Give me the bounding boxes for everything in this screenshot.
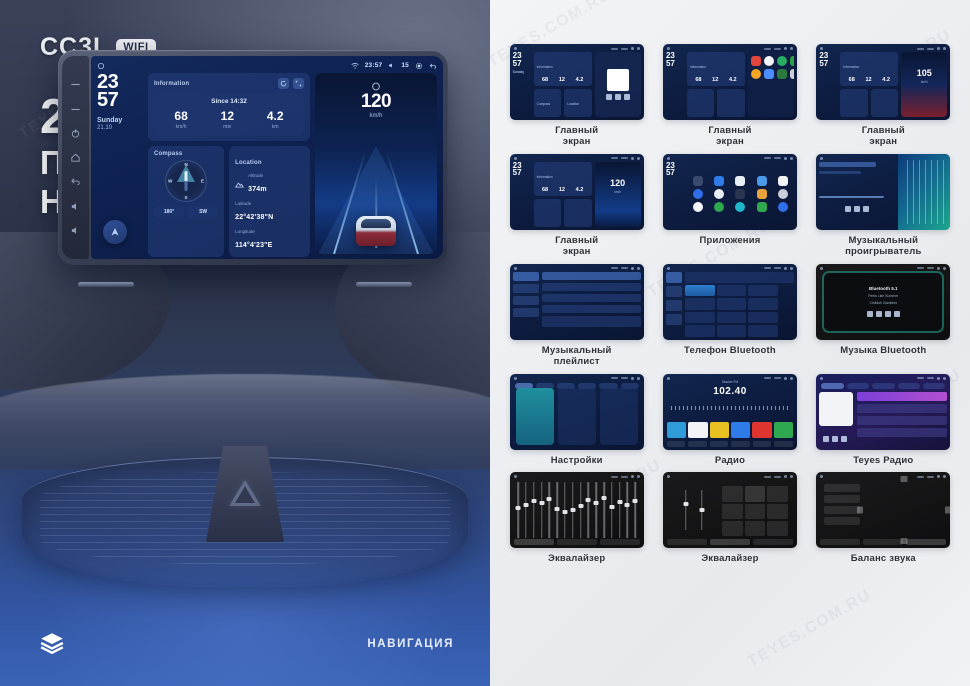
compass-north: N <box>184 162 187 167</box>
eq-band[interactable] <box>530 482 537 538</box>
information-title: Information <box>154 81 189 87</box>
balance-up-button[interactable] <box>901 476 908 482</box>
thumb-info-title: Information <box>843 65 859 69</box>
widgets-column: Information <box>148 73 310 254</box>
bluetooth-artist: Childish Gambino <box>870 301 898 305</box>
app-icon[interactable] <box>777 56 787 66</box>
settings-tiles[interactable] <box>516 388 638 445</box>
preset-station[interactable] <box>688 422 707 438</box>
thumb-speed-unit: km/h <box>595 190 641 194</box>
next-icon <box>863 206 869 212</box>
gallery-item-label: Музыкальныйплейлист <box>542 346 612 368</box>
playlist-categories[interactable] <box>513 272 539 337</box>
latitude-value: 22°42'38"N <box>235 214 273 221</box>
app-icon[interactable] <box>764 56 774 66</box>
compass-dial: N E S W <box>165 160 207 202</box>
location-card[interactable]: Location Altitude 374m Latitude <box>229 146 310 257</box>
balance-left-button[interactable] <box>857 507 863 514</box>
thumb-speed-value: 120 <box>595 178 641 188</box>
refresh-icon[interactable] <box>278 78 289 89</box>
gallery-item[interactable]: Эквалайзер <box>657 472 802 565</box>
app-icon[interactable] <box>751 56 761 66</box>
thumbnail-equalizer-presets[interactable] <box>663 472 797 548</box>
longitude-value: 114°4'23"E <box>235 242 272 249</box>
app-icon[interactable] <box>714 176 724 186</box>
back-icon[interactable] <box>429 62 437 70</box>
expand-icon[interactable] <box>293 78 304 89</box>
thumbnail-teyes-radio[interactable] <box>816 374 950 450</box>
wifi-tile[interactable] <box>516 388 554 445</box>
prev-icon <box>823 436 829 442</box>
gallery-item-label: Главныйэкран <box>862 126 905 148</box>
prev-icon <box>606 94 612 100</box>
gallery-grid: 2357Sunday Information 68124.2 CompassLo… <box>490 44 970 565</box>
app-icon[interactable] <box>757 189 767 199</box>
gallery-item[interactable]: Баланс звука <box>811 472 956 565</box>
balance-pad[interactable] <box>866 484 942 536</box>
compass-west: W <box>168 179 172 184</box>
eq-band[interactable] <box>569 482 576 538</box>
trip-stat: 68 km/h <box>174 110 187 130</box>
dial-display[interactable] <box>685 272 794 283</box>
radio-band: Stacker FM <box>663 380 797 384</box>
gear-icon[interactable] <box>415 62 423 70</box>
gallery-item[interactable]: Музыкальныйпроигрыватель <box>811 154 956 258</box>
thumb-speed-unit: km/h <box>901 80 947 84</box>
app-icon[interactable] <box>735 189 745 199</box>
thumb-compass-title: Compass <box>537 102 550 106</box>
gallery-item-label: Музыкальныйпроигрыватель <box>845 236 921 258</box>
gallery-item[interactable]: 2357 Information 68124.2 <box>657 44 802 148</box>
thumb-stat: 4.2 <box>576 77 584 83</box>
phone-actions[interactable] <box>780 285 794 337</box>
app-icon[interactable] <box>693 176 703 186</box>
thumb-stat: 12 <box>559 77 565 83</box>
vehicle-windshield <box>361 219 391 228</box>
gallery-watermark: TEYES.COM.RU <box>745 586 875 671</box>
app-icon[interactable] <box>790 56 794 66</box>
gallery-item-label: Главныйэкран <box>555 236 598 258</box>
trip-stat-value: 12 <box>221 110 234 122</box>
thumbnail-home-apps[interactable]: 2357 Information 68124.2 <box>663 44 797 120</box>
trip-stat-unit: km <box>267 124 284 130</box>
altitude-value: 374m <box>248 186 267 193</box>
thumb-clock-minutes: 57 <box>666 59 675 68</box>
vent-knob-right[interactable] <box>356 282 412 287</box>
thumbnail-equalizer-bands[interactable] <box>510 472 644 548</box>
navigation-arrow-icon <box>109 226 121 238</box>
clock-widget: 23 57 Sunday 21.10 <box>97 73 143 254</box>
gallery-item-label: Настройки <box>551 456 603 467</box>
thumb-stat: 4.2 <box>576 187 584 193</box>
thumb-stat: 68 <box>542 187 548 193</box>
thumbnail-apps[interactable]: 2357 <box>663 154 797 230</box>
eq-band[interactable] <box>562 482 569 538</box>
sound-tile[interactable] <box>558 388 596 445</box>
gallery-item-label: Главныйэкран <box>555 126 598 148</box>
clock-minutes: 57 <box>97 91 143 109</box>
app-icon[interactable] <box>764 69 774 79</box>
gallery-item-label: Приложения <box>699 236 760 247</box>
menu-icon[interactable] <box>70 79 81 90</box>
app-drawer[interactable] <box>687 162 794 227</box>
mountain-icon <box>235 180 244 189</box>
gallery-item[interactable]: 2357 Information 68124.2 120 km/h <box>504 154 649 258</box>
wifi-icon <box>351 62 359 70</box>
radio-presets[interactable] <box>667 422 793 438</box>
app-icon[interactable] <box>693 202 703 212</box>
balance-toolbar[interactable] <box>820 539 946 545</box>
home-screen: 23 57 Sunday 21.10 Information <box>97 73 437 254</box>
trip-stat-unit: min <box>221 124 234 130</box>
speed-unit: km/h <box>315 113 437 119</box>
thumb-nav-panel: 120 km/h <box>595 162 641 227</box>
eq-band[interactable] <box>577 482 584 538</box>
eq-band[interactable] <box>585 482 592 538</box>
location-title: Location <box>235 160 262 166</box>
eq-band[interactable] <box>616 482 623 538</box>
thumb-location-title: Location <box>567 102 579 106</box>
thumb-stat: 12 <box>559 187 565 193</box>
phone-nav[interactable] <box>666 272 682 337</box>
status-time: 23:57 <box>365 62 383 69</box>
trip-stat-unit: km/h <box>174 124 187 130</box>
thumbnail-home-nav[interactable]: 2357 Information 68124.2 120 km/h <box>510 154 644 230</box>
app-icon[interactable] <box>735 176 745 186</box>
eq-band[interactable] <box>624 482 631 538</box>
clock-day: Sunday <box>97 117 143 124</box>
gallery-item[interactable]: 2357Sunday Information 68124.2 CompassLo… <box>504 44 649 148</box>
hero-panel: TEYES.COM.RU TEYES.COM.RU TEYES.COM.RU T… <box>0 0 490 686</box>
bluetooth-track: Feels Like Summer <box>868 294 898 298</box>
thumb-clock-minutes: 57 <box>819 59 828 68</box>
preset-station[interactable] <box>731 422 750 438</box>
equalizer-toolbar[interactable] <box>514 539 640 545</box>
car-dashboard: НАВИГАЦИЯ <box>0 232 490 686</box>
compass-direction: SW <box>188 206 218 218</box>
hazard-triangle-inner <box>235 486 255 503</box>
balance-right-button[interactable] <box>945 507 950 514</box>
mute-icon[interactable] <box>70 104 81 115</box>
gallery-item-label: Teyes Радио <box>853 456 913 467</box>
latitude-label: Latitude <box>235 201 304 206</box>
volume-down-icon[interactable] <box>70 201 81 212</box>
trip-stats: 68 km/h 12 min 4.2 km <box>158 110 300 130</box>
screenshot-gallery: TEYES.COM.RU TEYES.COM.RU TEYES.COM.RU T… <box>490 0 970 686</box>
gallery-item-label: Радио <box>715 456 745 467</box>
thumbnail-bluetooth-music[interactable]: Bluetooth 5.1 Feels Like Summer Childish… <box>816 264 950 340</box>
fader-group[interactable] <box>672 486 716 536</box>
thumb-info-title: Information <box>537 175 553 179</box>
thumb-stat: 68 <box>695 77 701 83</box>
compass-south: S <box>185 195 188 200</box>
gallery-item[interactable]: Телефон Bluetooth <box>657 264 802 368</box>
app-icon[interactable] <box>751 69 761 79</box>
status-bar: 23:57 15 <box>97 59 437 72</box>
trip-summary: Since 14:32 68 km/h 12 min <box>154 93 304 136</box>
gallery-item[interactable]: Эквалайзер <box>504 472 649 565</box>
app-icon[interactable] <box>714 189 724 199</box>
eq-band[interactable] <box>601 482 608 538</box>
gallery-item-label: Главныйэкран <box>708 126 751 148</box>
navigation-label: НАВИГАЦИЯ <box>367 638 454 650</box>
app-icon[interactable] <box>757 202 767 212</box>
album-art <box>607 69 629 91</box>
volume-up-icon[interactable] <box>70 225 81 236</box>
speed-value: 120 <box>315 92 437 111</box>
head-unit: 23:57 15 23 57 Sunday 21.10 <box>58 50 448 265</box>
thumb-clock-day: Sunday <box>513 71 531 74</box>
speed-limit-icon <box>372 82 381 91</box>
balance-presets[interactable] <box>824 484 860 536</box>
thumb-nav-panel: 105 km/h <box>901 52 947 117</box>
compass-east: E <box>201 179 204 184</box>
thumb-speed-value: 105 <box>901 68 947 78</box>
thumb-stat: 68 <box>849 77 855 83</box>
radio-toolbar[interactable] <box>667 441 793 447</box>
equalizer-toolbar[interactable] <box>667 539 793 545</box>
vehicle-3d-model <box>356 216 396 246</box>
information-card[interactable]: Information <box>148 73 310 141</box>
gallery-item[interactable]: 2357 <box>657 154 802 258</box>
app-icon[interactable] <box>757 176 767 186</box>
music-visualizer <box>898 154 950 230</box>
preset-station[interactable] <box>710 422 729 438</box>
station-artwork <box>819 392 853 426</box>
next-icon <box>894 311 900 317</box>
prev-icon <box>845 206 851 212</box>
eq-band[interactable] <box>608 482 615 538</box>
trip-stat: 12 min <box>221 110 234 130</box>
thumbnail-radio[interactable]: Stacker FM 102.40 <box>663 374 797 450</box>
preset-station[interactable] <box>667 422 686 438</box>
compass-title: Compass <box>154 151 218 157</box>
head-unit-side-keys <box>62 56 89 259</box>
thumb-music-widget <box>595 52 641 117</box>
dial-pad[interactable] <box>685 285 778 337</box>
app-icon[interactable] <box>777 69 787 79</box>
gallery-item-label: Телефон Bluetooth <box>684 346 776 357</box>
eq-band[interactable] <box>632 482 639 538</box>
next-icon <box>841 436 847 442</box>
thumb-stat: 4.2 <box>729 77 737 83</box>
gallery-item[interactable]: Bluetooth 5.1 Feels Like Summer Childish… <box>811 264 956 368</box>
thumb-clock-minutes: 57 <box>513 59 522 68</box>
thumb-clock-minutes: 57 <box>666 168 675 177</box>
eq-band[interactable] <box>554 482 561 538</box>
eq-band[interactable] <box>546 482 553 538</box>
thumb-info-title: Information <box>690 65 706 69</box>
back-icon[interactable] <box>70 176 81 187</box>
stop-icon <box>832 436 838 442</box>
longitude-label: Longitude <box>235 229 304 234</box>
station-list[interactable] <box>857 392 947 447</box>
gallery-item-label: Музыка Bluetooth <box>840 346 926 357</box>
preset-grid[interactable] <box>722 486 788 536</box>
thumb-stat: 4.2 <box>882 77 890 83</box>
bluetooth-now-playing: Bluetooth 5.1 Feels Like Summer Childish… <box>824 273 942 331</box>
layers-icon <box>38 630 66 656</box>
head-unit-screen[interactable]: 23:57 15 23 57 Sunday 21.10 <box>91 56 443 259</box>
gallery-item[interactable]: Музыкальныйплейлист <box>504 264 649 368</box>
compass-needle <box>185 171 188 191</box>
trip-since: Since 14:32 <box>158 98 300 105</box>
more-tile[interactable] <box>600 388 638 445</box>
home-icon[interactable] <box>70 152 81 163</box>
navigation-speed-panel[interactable]: 120 km/h <box>315 73 437 254</box>
thumbnail-bluetooth-phone[interactable] <box>663 264 797 340</box>
status-volume: 15 <box>401 62 409 69</box>
thumbnail-sound-balance[interactable] <box>816 472 950 548</box>
preset-station[interactable] <box>774 422 793 438</box>
preset-station[interactable] <box>752 422 771 438</box>
thumb-clock-minutes: 57 <box>513 168 522 177</box>
play-icon <box>615 94 621 100</box>
gallery-item[interactable]: 2357 Information 68124.2 105 km/h <box>811 44 956 148</box>
app-icon[interactable] <box>790 69 794 79</box>
thumbnail-settings[interactable] <box>510 374 644 450</box>
eq-band[interactable] <box>522 482 529 538</box>
eq-band[interactable] <box>515 482 522 538</box>
thumbnail-playlist[interactable] <box>510 264 644 340</box>
bluetooth-version: Bluetooth 5.1 <box>869 286 898 291</box>
navigation-fab[interactable] <box>103 220 127 244</box>
trip-stat-value: 68 <box>174 110 187 122</box>
app-icon[interactable] <box>778 202 788 212</box>
app-icon[interactable] <box>778 189 788 199</box>
prev-icon <box>867 311 873 317</box>
power-icon[interactable] <box>70 128 81 139</box>
trip-stat-value: 4.2 <box>267 110 284 122</box>
gallery-item-label: Эквалайзер <box>701 554 758 565</box>
gallery-item[interactable]: Настройки <box>504 374 649 467</box>
thumbnail-music-player[interactable] <box>816 154 950 230</box>
playlist-tracks[interactable] <box>542 272 641 337</box>
equalizer-sliders[interactable] <box>515 482 639 538</box>
thumb-stat: 12 <box>865 77 871 83</box>
pause-icon <box>854 206 860 212</box>
vent-knob-left[interactable] <box>78 282 134 287</box>
home-icon[interactable] <box>97 62 105 70</box>
radio-frequency: 102.40 <box>663 386 797 397</box>
gallery-item[interactable]: Stacker FM 102.40 Радио <box>657 374 802 467</box>
thumb-info-title: Information <box>537 65 553 69</box>
gallery-item[interactable]: Teyes Радио <box>811 374 956 467</box>
app-icon[interactable] <box>714 202 724 212</box>
app-icon[interactable] <box>778 176 788 186</box>
thumbnail-home-music[interactable]: 2357Sunday Information 68124.2 CompassLo… <box>510 44 644 120</box>
app-icon[interactable] <box>693 189 703 199</box>
app-icon[interactable] <box>735 202 745 212</box>
thumb-stat: 68 <box>542 77 548 83</box>
teyes-radio-tabs[interactable] <box>821 383 945 389</box>
compass-card[interactable]: Compass N E S W 180° <box>148 146 224 257</box>
eq-band[interactable] <box>538 482 545 538</box>
gallery-item-label: Эквалайзер <box>548 554 605 565</box>
play-pause-icon <box>876 311 882 317</box>
eq-band[interactable] <box>593 482 600 538</box>
gallery-item-label: Баланс звука <box>851 554 916 565</box>
trip-stat: 4.2 km <box>267 110 284 130</box>
compass-heading: 180° <box>154 206 184 218</box>
thumb-stat: 12 <box>712 77 718 83</box>
tuning-scale[interactable] <box>671 406 789 410</box>
next-icon <box>624 94 630 100</box>
stop-icon <box>885 311 891 317</box>
altitude-label: Altitude <box>248 173 267 178</box>
thumbnail-home-nav-red[interactable]: 2357 Information 68124.2 105 km/h <box>816 44 950 120</box>
volume-icon[interactable] <box>388 62 395 69</box>
presentation-page: TEYES.COM.RU TEYES.COM.RU TEYES.COM.RU T… <box>0 0 970 686</box>
clock-date: 21.10 <box>97 125 143 131</box>
